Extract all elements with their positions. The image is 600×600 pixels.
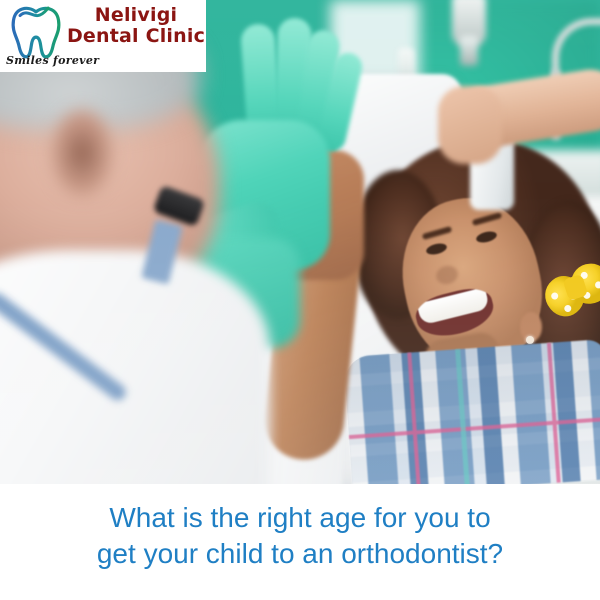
poster-image: Nelivigi Dental Clinic Smiles forever Wh… (0, 0, 600, 600)
tooth-icon (0, 0, 66, 60)
dentist-ear (52, 110, 112, 196)
clinic-name-line1: Nelivigi (66, 5, 206, 26)
adult-hand (438, 86, 502, 164)
sink-fixture-lower-icon (460, 36, 478, 66)
clinic-name-line2: Dental Clinic (66, 26, 206, 47)
child-figure (330, 140, 600, 484)
clinic-photo (0, 0, 600, 484)
clinic-tagline: Smiles forever (6, 54, 99, 67)
clinic-name: Nelivigi Dental Clinic (66, 0, 206, 48)
caption-line-1: What is the right age for you to (109, 500, 490, 536)
caption-area: What is the right age for you to get you… (0, 484, 600, 600)
shirt-shading (343, 339, 600, 484)
clinic-logo[interactable]: Nelivigi Dental Clinic Smiles forever (0, 0, 206, 72)
dentist-white-coat (0, 250, 270, 484)
caption-line-2: get your child to an orthodontist? (97, 536, 503, 572)
child-earring (526, 336, 534, 344)
